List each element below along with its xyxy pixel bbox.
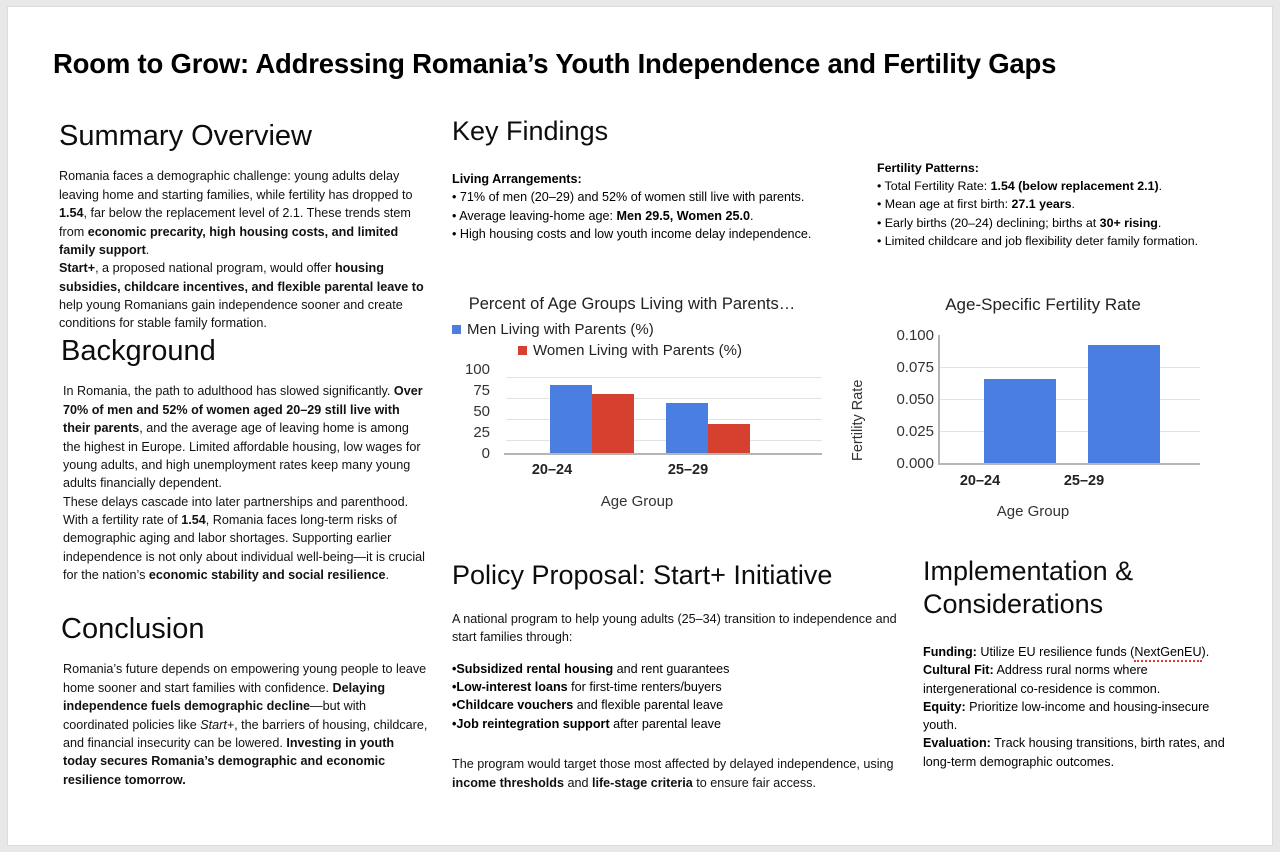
fertility-bullet: • Limited childcare and job flexibility … bbox=[877, 232, 1207, 250]
chart2-ytick: 0.000 bbox=[870, 455, 934, 472]
key-findings-bullet: • Average leaving-home age: Men 29.5, Wo… bbox=[452, 207, 812, 225]
policy-intro: A national program to help young adults … bbox=[452, 610, 900, 647]
conclusion-body: Romania’s future depends on empowering y… bbox=[63, 660, 428, 789]
bullet-bold: 1.54 (below replacement 2.1) bbox=[991, 179, 1159, 193]
implementation-item-label: Equity: bbox=[923, 700, 966, 714]
bar-women-20-24 bbox=[592, 394, 634, 453]
summary-overview-section: Summary Overview Romania faces a demogra… bbox=[53, 119, 428, 333]
conclusion-section: Conclusion Romania’s future depends on e… bbox=[53, 612, 428, 789]
chart1-plot-area bbox=[492, 369, 822, 455]
summary-p2-mid: , a proposed national program, would off… bbox=[95, 261, 335, 275]
page-title: Room to Grow: Addressing Romania’s Youth… bbox=[53, 47, 1133, 80]
legend-label-women: Women Living with Parents (%) bbox=[533, 342, 742, 359]
bullet-text: • 71% of men (20–29) and 52% of women st… bbox=[452, 190, 804, 204]
chart1-category-20-24: 20–24 bbox=[512, 462, 592, 478]
bar-men-25-29 bbox=[666, 403, 708, 453]
policy-closing-end: to ensure fair access. bbox=[693, 776, 816, 790]
fertility-patterns-section: Fertility Patterns: • Total Fertility Ra… bbox=[877, 159, 1207, 250]
implementation-item-text: Utilize EU resilience funds ( bbox=[977, 645, 1134, 659]
bullet-text: • Limited childcare and job flexibility … bbox=[877, 234, 1198, 248]
gridline bbox=[940, 399, 1200, 400]
policy-closing-pre: The program would target those most affe… bbox=[452, 757, 894, 771]
policy-bullet-bold: •Subsidized rental housing bbox=[452, 662, 613, 676]
bullet-bold: 30+ rising bbox=[1100, 216, 1158, 230]
policy-closing-mid: and bbox=[564, 776, 592, 790]
chart1-ytick: 50 bbox=[452, 403, 490, 420]
background-body: In Romania, the path to adulthood has sl… bbox=[63, 382, 425, 584]
chart2-y-axis-label: Fertility Rate bbox=[850, 341, 866, 461]
chart2-category-25-29: 25–29 bbox=[1044, 473, 1124, 489]
key-findings-heading: Key Findings bbox=[452, 115, 812, 148]
key-findings-bullet: • High housing costs and low youth incom… bbox=[452, 225, 812, 243]
background-p2-end: . bbox=[385, 568, 389, 582]
chart2-ytick: 0.050 bbox=[870, 391, 934, 408]
living-arrangements-subheading: Living Arrangements: bbox=[452, 170, 812, 188]
bullet-post: . bbox=[750, 209, 754, 223]
policy-bullet-bold: •Job reintegration support bbox=[452, 717, 610, 731]
policy-closing-bold-2: life-stage criteria bbox=[592, 776, 693, 790]
key-findings-bullet: • 71% of men (20–29) and 52% of women st… bbox=[452, 188, 812, 206]
chart1-ytick: 100 bbox=[452, 361, 490, 378]
implementation-item-label: Evaluation: bbox=[923, 736, 991, 750]
policy-bullet-rest: and rent guarantees bbox=[613, 662, 729, 676]
bullet-text: • Total Fertility Rate: bbox=[877, 179, 991, 193]
chart2-title: Age-Specific Fertility Rate bbox=[878, 295, 1208, 315]
summary-program-name: Start+ bbox=[59, 261, 95, 275]
policy-bullet-rest: after parental leave bbox=[610, 717, 721, 731]
key-findings-body: Living Arrangements: • 71% of men (20–29… bbox=[452, 170, 812, 243]
bar-men-20-24 bbox=[550, 385, 592, 453]
chart1-ytick: 75 bbox=[452, 382, 490, 399]
chart1-x-axis-label: Age Group bbox=[547, 493, 727, 510]
background-p2-bold: economic stability and social resilience bbox=[149, 568, 386, 582]
implementation-item: Equity: Prioritize low-income and housin… bbox=[923, 698, 1235, 735]
chart2-plot-area bbox=[938, 335, 1200, 465]
background-heading: Background bbox=[61, 334, 428, 369]
policy-proposal-section: Policy Proposal: Start+ Initiative A nat… bbox=[452, 559, 904, 792]
bullet-text: • Average leaving-home age: bbox=[452, 209, 617, 223]
policy-bullet: •Childcare vouchers and flexible parenta… bbox=[452, 696, 904, 714]
summary-p1-end: . bbox=[146, 243, 150, 257]
bullet-text: • Mean age at first birth: bbox=[877, 197, 1012, 211]
implementation-item: Evaluation: Track housing transitions, b… bbox=[923, 734, 1235, 771]
bullet-post: . bbox=[1071, 197, 1074, 211]
legend-swatch-men bbox=[452, 325, 461, 334]
implementation-item-label: Cultural Fit: bbox=[923, 663, 994, 677]
chart2-ytick: 0.025 bbox=[870, 423, 934, 440]
summary-fertility-value: 1.54 bbox=[59, 206, 84, 220]
gridline bbox=[506, 377, 822, 378]
background-section: Background In Romania, the path to adult… bbox=[53, 334, 428, 585]
key-findings-section: Key Findings Living Arrangements: • 71% … bbox=[452, 115, 812, 243]
chart1-title: Percent of Age Groups Living with Parent… bbox=[452, 295, 812, 314]
fertility-bullet: • Early births (20–24) declining; births… bbox=[877, 214, 1207, 232]
chart-age-specific-fertility-rate: Age-Specific Fertility Rate Fertility Ra… bbox=[848, 295, 1233, 520]
bullet-text: • High housing costs and low youth incom… bbox=[452, 227, 811, 241]
implementation-item: Cultural Fit: Address rural norms where … bbox=[923, 661, 1235, 698]
implementation-item-text: Prioritize low-income and housing-insecu… bbox=[923, 700, 1209, 732]
implementation-item: Funding: Utilize EU resilience funds (Ne… bbox=[923, 643, 1235, 661]
bullet-bold: Men 29.5, Women 25.0 bbox=[617, 209, 750, 223]
chart2-ytick: 0.100 bbox=[870, 327, 934, 344]
policy-closing: The program would target those most affe… bbox=[452, 755, 900, 792]
bullet-post: . bbox=[1158, 216, 1161, 230]
implementation-heading: Implementation & Considerations bbox=[923, 555, 1238, 621]
chart1-category-25-29: 25–29 bbox=[648, 462, 728, 478]
implementation-body: Funding: Utilize EU resilience funds (Ne… bbox=[923, 643, 1235, 771]
summary-p1-pre: Romania faces a demographic challenge: y… bbox=[59, 169, 413, 201]
bar-women-25-29 bbox=[708, 424, 750, 453]
policy-bullet-list: •Subsidized rental housing and rent guar… bbox=[452, 660, 904, 734]
spellcheck-flagged-word: NextGenEU bbox=[1134, 645, 1201, 662]
implementation-considerations-section: Implementation & Considerations Funding:… bbox=[923, 555, 1238, 771]
fertility-patterns-subheading: Fertility Patterns: bbox=[877, 159, 1207, 177]
summary-heading: Summary Overview bbox=[59, 119, 428, 154]
chart2-x-axis-label: Age Group bbox=[953, 503, 1113, 520]
background-p1-pre: In Romania, the path to adulthood has sl… bbox=[63, 384, 394, 398]
chart1-ytick: 0 bbox=[452, 445, 490, 462]
policy-bullet-rest: and flexible parental leave bbox=[573, 698, 723, 712]
bullet-post: . bbox=[1159, 179, 1162, 193]
chart1-ytick: 25 bbox=[452, 424, 490, 441]
legend-swatch-women bbox=[518, 346, 527, 355]
conclusion-heading: Conclusion bbox=[61, 612, 428, 647]
policy-bullet: •Low-interest loans for first-time rente… bbox=[452, 678, 904, 696]
policy-bullet-bold: •Low-interest loans bbox=[452, 680, 568, 694]
policy-bullet-rest: for first-time renters/buyers bbox=[568, 680, 722, 694]
bar-fertility-20-24 bbox=[984, 379, 1056, 463]
bullet-text: • Early births (20–24) declining; births… bbox=[877, 216, 1100, 230]
chart2-ytick: 0.075 bbox=[870, 359, 934, 376]
legend-label-men: Men Living with Parents (%) bbox=[467, 321, 654, 338]
gridline bbox=[940, 431, 1200, 432]
summary-p2-end: help young Romanians gain independence s… bbox=[59, 298, 403, 330]
chart2-category-20-24: 20–24 bbox=[940, 473, 1020, 489]
policy-heading: Policy Proposal: Start+ Initiative bbox=[452, 559, 904, 592]
policy-bullet: •Job reintegration support after parenta… bbox=[452, 715, 904, 733]
chart-living-with-parents: Percent of Age Groups Living with Parent… bbox=[452, 295, 832, 520]
policy-bullet-bold: •Childcare vouchers bbox=[452, 698, 573, 712]
poster-page: Room to Grow: Addressing Romania’s Youth… bbox=[7, 6, 1273, 846]
policy-closing-bold-1: income thresholds bbox=[452, 776, 564, 790]
implementation-item-label: Funding: bbox=[923, 645, 977, 659]
bar-fertility-25-29 bbox=[1088, 345, 1160, 463]
fertility-bullet: • Total Fertility Rate: 1.54 (below repl… bbox=[877, 177, 1207, 195]
chart1-legend-item-men: Men Living with Parents (%) bbox=[452, 321, 654, 340]
chart1-axis-baseline bbox=[504, 453, 822, 455]
fertility-bullet: • Mean age at first birth: 27.1 years. bbox=[877, 195, 1207, 213]
summary-causes: economic precarity, high housing costs, … bbox=[59, 225, 398, 257]
summary-body: Romania faces a demographic challenge: y… bbox=[59, 167, 427, 332]
bullet-bold: 27.1 years bbox=[1012, 197, 1072, 211]
conclusion-italic-program: Start+ bbox=[200, 718, 234, 732]
policy-bullet: •Subsidized rental housing and rent guar… bbox=[452, 660, 904, 678]
background-p2-value: 1.54 bbox=[181, 513, 206, 527]
chart1-legend-item-women: Women Living with Parents (%) bbox=[518, 342, 742, 361]
gridline bbox=[940, 367, 1200, 368]
implementation-item-text-post: ). bbox=[1202, 645, 1210, 659]
